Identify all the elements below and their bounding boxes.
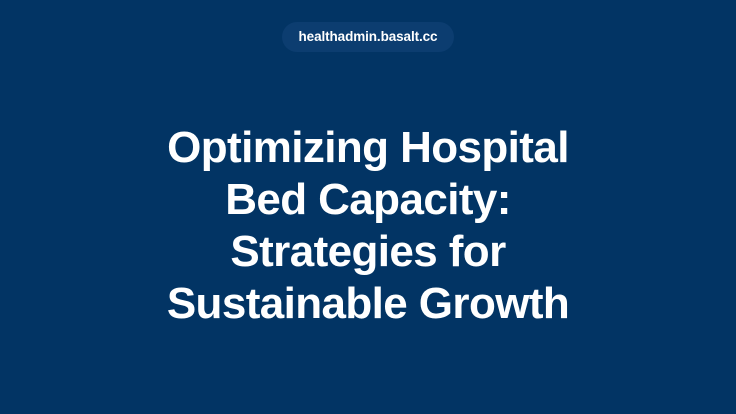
headline-container: Optimizing Hospital Bed Capacity: Strate… <box>0 38 736 414</box>
title-line-3: Strategies for <box>167 226 569 278</box>
page-title: Optimizing Hospital Bed Capacity: Strate… <box>167 122 569 330</box>
title-line-4: Sustainable Growth <box>167 278 569 330</box>
title-line-1: Optimizing Hospital <box>167 122 569 174</box>
title-line-2: Bed Capacity: <box>167 174 569 226</box>
title-slide: healthadmin.basalt.cc Optimizing Hospita… <box>0 0 736 414</box>
